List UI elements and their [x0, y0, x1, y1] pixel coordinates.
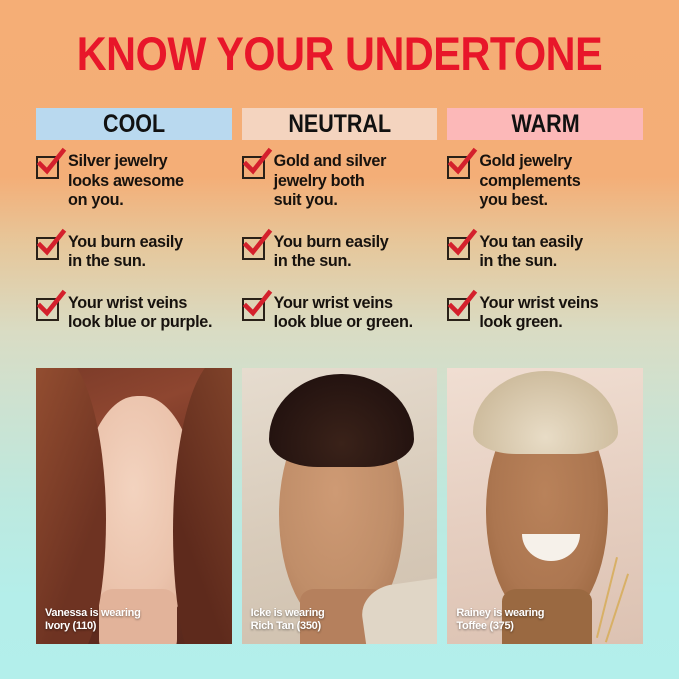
- checklist-item[interactable]: Your wrist veins look green.: [447, 294, 643, 333]
- checklist-item[interactable]: You burn easily in the sun.: [242, 233, 438, 272]
- checklist-item-label: Your wrist veins look green.: [479, 294, 598, 333]
- column-header-cool: COOL: [36, 108, 232, 140]
- column-header-neutral-label: NEUTRAL: [288, 110, 391, 139]
- column-header-cool-label: COOL: [103, 110, 165, 139]
- checklist-column-cool: Silver jewelry looks awesome on you. You…: [36, 152, 232, 333]
- checkbox-checked[interactable]: [447, 156, 470, 179]
- infographic-poster: KNOW YOUR UNDERTONE COOL NEUTRAL WARM Si…: [0, 0, 679, 679]
- checklist-item-label: Silver jewelry looks awesome on you.: [68, 152, 184, 211]
- checklist-item-label: You burn easily in the sun.: [274, 233, 389, 272]
- checklist-item-label: Your wrist veins look blue or purple.: [68, 294, 212, 333]
- model-photo-row: Vanessa is wearing Ivory (110) Icke is w…: [36, 368, 643, 644]
- checkbox-checked[interactable]: [242, 237, 265, 260]
- undertone-checklist-row: Silver jewelry looks awesome on you. You…: [36, 152, 643, 333]
- checkmark-icon: [36, 149, 66, 177]
- column-header-warm: WARM: [447, 108, 643, 140]
- portrait-image-rainey: [447, 368, 643, 644]
- checkmark-icon: [447, 291, 477, 319]
- checklist-item[interactable]: Gold and silver jewelry both suit you.: [242, 152, 438, 211]
- checkmark-icon: [36, 230, 66, 258]
- checklist-column-warm: Gold jewelry complements you best. You t…: [447, 152, 643, 333]
- checkbox-checked[interactable]: [36, 298, 59, 321]
- checklist-item[interactable]: Your wrist veins look blue or purple.: [36, 294, 232, 333]
- photo-caption: Rainey is wearing Toffee (375): [456, 607, 544, 632]
- checkmark-icon: [36, 291, 66, 319]
- checklist-item-label: Gold and silver jewelry both suit you.: [274, 152, 386, 211]
- photo-caption: Icke is wearing Rich Tan (350): [251, 607, 325, 632]
- column-header-neutral: NEUTRAL: [242, 108, 438, 140]
- checkbox-checked[interactable]: [447, 298, 470, 321]
- checklist-item[interactable]: You burn easily in the sun.: [36, 233, 232, 272]
- checkmark-icon: [242, 149, 272, 177]
- checklist-item-label: You tan easily in the sun.: [479, 233, 582, 272]
- portrait-image-icke: [242, 368, 438, 644]
- checkbox-checked[interactable]: [242, 156, 265, 179]
- checklist-item[interactable]: Gold jewelry complements you best.: [447, 152, 643, 211]
- checkmark-icon: [447, 230, 477, 258]
- checkbox-checked[interactable]: [36, 156, 59, 179]
- checklist-item-label: Gold jewelry complements you best.: [479, 152, 580, 211]
- checkbox-checked[interactable]: [447, 237, 470, 260]
- undertone-header-row: COOL NEUTRAL WARM: [36, 108, 643, 140]
- checkmark-icon: [242, 230, 272, 258]
- checkmark-icon: [242, 291, 272, 319]
- photo-caption: Vanessa is wearing Ivory (110): [45, 607, 141, 632]
- checklist-item[interactable]: Your wrist veins look blue or green.: [242, 294, 438, 333]
- checklist-item[interactable]: You tan easily in the sun.: [447, 233, 643, 272]
- model-photo-cool[interactable]: Vanessa is wearing Ivory (110): [36, 368, 232, 644]
- checkbox-checked[interactable]: [36, 237, 59, 260]
- checklist-item-label: You burn easily in the sun.: [68, 233, 183, 272]
- checkmark-icon: [447, 149, 477, 177]
- checklist-item-label: Your wrist veins look blue or green.: [274, 294, 413, 333]
- column-header-warm-label: WARM: [511, 110, 579, 139]
- checklist-column-neutral: Gold and silver jewelry both suit you. Y…: [242, 152, 438, 333]
- checkbox-checked[interactable]: [242, 298, 265, 321]
- model-photo-neutral[interactable]: Icke is wearing Rich Tan (350): [242, 368, 438, 644]
- checklist-item[interactable]: Silver jewelry looks awesome on you.: [36, 152, 232, 211]
- model-photo-warm[interactable]: Rainey is wearing Toffee (375): [447, 368, 643, 644]
- page-title: KNOW YOUR UNDERTONE: [41, 28, 639, 80]
- portrait-image-vanessa: [36, 368, 232, 644]
